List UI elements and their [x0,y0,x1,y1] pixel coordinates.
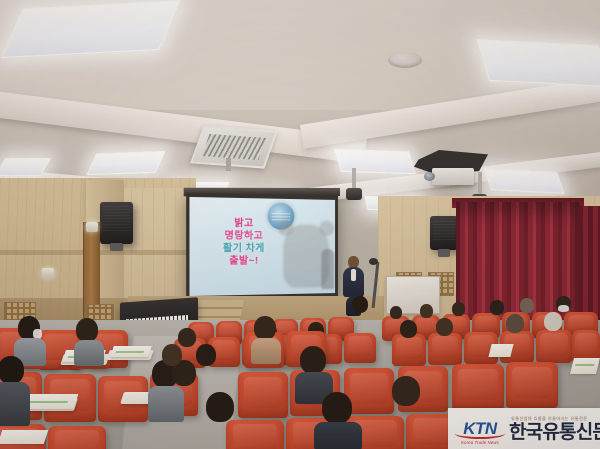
presenter-shirt [351,269,356,281]
paper-highlight-line [115,351,144,353]
speaker-grille [433,219,455,240]
speaker-bracket [438,249,449,257]
auditorium-seat[interactable] [48,426,106,449]
vent-drop-stem [226,158,231,171]
ceiling-led-panel [334,149,415,175]
audience-head [506,314,524,333]
auditorium-seat[interactable] [392,334,426,366]
ceiling-air-vent-icon [190,125,278,168]
audience-head [352,296,368,313]
audience-head [544,312,562,331]
ktn-logo: KTN Korea Trade News [454,414,506,444]
handout-paper [570,358,600,374]
ceiling-speaker-icon [388,52,422,68]
auditorium-seat[interactable] [536,330,572,363]
face-mask-icon [558,305,569,312]
audience-head [322,392,352,424]
speaker-grille [103,205,129,231]
auditorium-seat[interactable] [238,372,288,418]
paper-highlight-line [575,364,595,366]
audience-torso [0,382,30,426]
ktn-swoosh-icon [455,428,505,439]
audience-head [254,316,276,340]
audience-head [392,376,420,406]
audience-head [390,306,402,319]
ceiling-camera-icon [346,188,362,200]
audience-head [162,344,182,366]
audience-head [196,344,216,366]
handout-paper [488,344,513,357]
audience-head [420,304,433,318]
auditorium-seat[interactable] [452,364,504,410]
audience-head [400,320,417,338]
slide-line-1: 밝고 [200,217,286,231]
auditorium-seat[interactable] [344,333,376,363]
projector-lens-icon [424,172,435,181]
audience-head [0,356,24,384]
audience-head [178,328,196,347]
handout-paper [22,394,79,409]
ceiling-led-panel [1,0,180,58]
slide-person-illustration [321,249,334,289]
ceiling-led-panel [476,39,600,87]
audience-torso [74,340,104,366]
vent-louver [202,134,267,160]
slide-surface: 밝고 명랑하고 활기 차게 출발~! [189,197,335,296]
audience-torso [251,338,281,364]
microphone-icon [369,258,378,265]
publisher-watermark: KTN Korea Trade News 유통산업의 흐름을 이끌어가는 유통전… [448,408,600,449]
audience-head [452,302,465,316]
audience-head [436,318,453,336]
slide-line-2: 명랑하고 [200,230,286,243]
audience-head [76,318,98,342]
wall-speaker-icon [100,202,133,244]
audience-head [490,300,504,315]
ceiling-led-panel [86,151,165,175]
auditorium-seat[interactable] [428,333,462,365]
handout-paper [0,430,48,444]
auditorium-seat[interactable] [226,420,284,449]
audience-head [206,392,234,422]
ceiling-led-panel [483,168,564,194]
auditorium-photo: 밝고 명랑하고 활기 차게 출발~! [0,0,600,449]
wall-light-fixture [42,268,54,278]
projector-icon [432,168,474,185]
speaker-bracket [110,243,123,251]
audience-head [300,346,326,374]
slide-line-3: 활기 차게 [200,243,286,256]
watermark-tagline: 유통산업의 흐름을 이끌어가는 유통전문 [511,416,600,422]
ktn-subtitle: Korea Trade News [454,440,506,445]
projection-screen[interactable]: 밝고 명랑하고 활기 차게 출발~! [186,193,338,301]
slide-line-4: 출발~! [200,255,286,268]
watermark-text-block: 유통산업의 흐름을 이끌어가는 유통전문 한국유통신문 [506,416,600,442]
handout-paper [110,346,152,357]
paper-highlight-line [29,401,68,403]
watermark-title: 한국유통신문 [509,423,600,442]
wall-speaker-icon [430,216,458,250]
wall-light-fixture [86,222,98,232]
audience-torso [148,386,184,422]
slide-text-block: 밝고 명랑하고 활기 차게 출발~! [200,217,286,269]
audience-torso [314,422,362,449]
audience-head [520,298,534,313]
auditorium-seat[interactable] [506,362,558,408]
